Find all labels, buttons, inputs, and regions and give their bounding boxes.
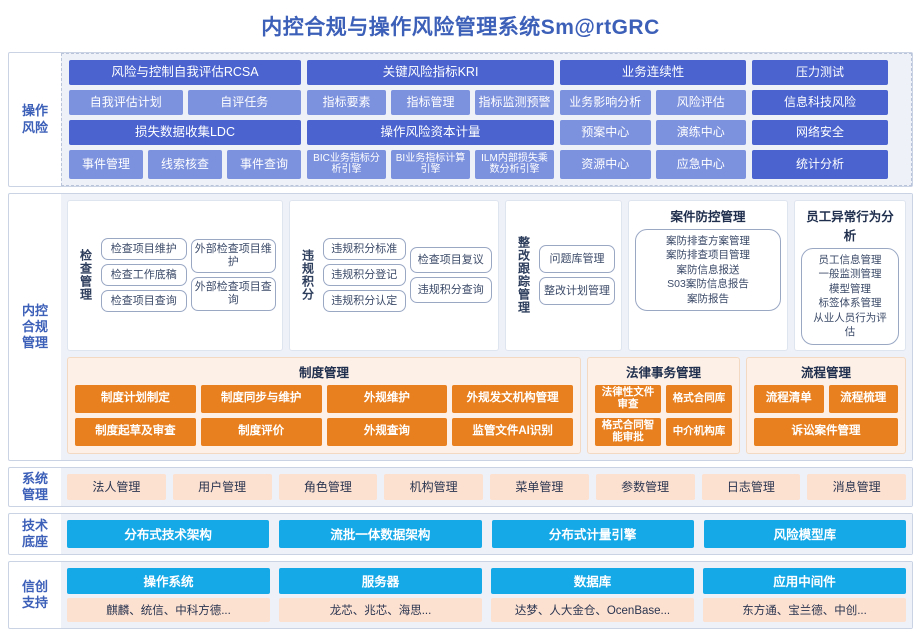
card-case-prevention: 案件防控管理 案防排查方案管理 案防排查项目管理 案防信息报送 S03案防信息报… (628, 200, 788, 351)
internal-control-body: 检查管理 检查项目维护 检查工作底稿 检查项目查询 外部检查项目维护 外部检查项… (61, 194, 912, 460)
list-item: 案防排查项目管理 (644, 248, 772, 262)
card-header: 案件防控管理 (635, 206, 781, 225)
op-item[interactable]: BIC业务指标分析引擎 (307, 150, 386, 179)
sys-item-legal-entity[interactable]: 法人管理 (67, 474, 166, 500)
op-item-it-risk[interactable]: 信息科技风险 (752, 90, 888, 115)
app-root: 内控合规与操作风险管理系统Sm@rtGRC 操作风险 风险与控制自我评估RCSA… (0, 0, 921, 640)
card-staff-behavior: 员工异常行为分析 员工信息管理 一般监测管理 模型管理 标签体系管理 从业人员行… (794, 200, 906, 351)
tech-base-band: 技术底座 分布式技术架构 流批一体数据架构 分布式计量引擎 风险模型库 (8, 513, 913, 555)
policy-item[interactable]: 外规查询 (327, 418, 448, 446)
tech-item-data-arch[interactable]: 流批一体数据架构 (279, 520, 481, 548)
op-item-cyber-security[interactable]: 网络安全 (752, 120, 888, 145)
op-header-capital[interactable]: 操作风险资本计量 (307, 120, 554, 145)
process-item[interactable]: 流程梳理 (829, 385, 899, 413)
tech-item-risk-model-lib[interactable]: 风险模型库 (704, 520, 906, 548)
xc-header[interactable]: 应用中间件 (703, 568, 906, 594)
policy-item[interactable]: 制度评价 (201, 418, 322, 446)
sys-item-role[interactable]: 角色管理 (279, 474, 378, 500)
op-column-kri: 关键风险指标KRI 指标要素 指标管理 指标监测预警 操作风险资本计量 BIC业… (307, 60, 554, 179)
op-item[interactable]: 指标管理 (391, 90, 470, 115)
pill-item[interactable]: 违规积分登记 (323, 264, 406, 286)
xc-column-middleware: 应用中间件 东方通、宝兰德、中创... (703, 568, 906, 622)
operational-risk-band: 操作风险 风险与控制自我评估RCSA 自我评估计划 自评任务 损失数据收集LDC… (8, 52, 913, 187)
op-item[interactable]: 指标监测预警 (475, 90, 554, 115)
tech-item-distributed-arch[interactable]: 分布式技术架构 (67, 520, 269, 548)
list-item: 案防报告 (644, 292, 772, 306)
pill-item[interactable]: 违规积分认定 (323, 290, 406, 312)
sys-item-user[interactable]: 用户管理 (173, 474, 272, 500)
op-header-ldc[interactable]: 损失数据收集LDC (69, 120, 301, 145)
pill-item[interactable]: 整改计划管理 (539, 277, 615, 305)
op-item[interactable]: 预案中心 (560, 120, 651, 145)
policy-item[interactable]: 外规发文机构管理 (452, 385, 573, 413)
system-management-band: 系统管理 法人管理 用户管理 角色管理 机构管理 菜单管理 参数管理 日志管理 … (8, 467, 913, 507)
op-item[interactable]: 事件管理 (69, 150, 143, 179)
pill-item[interactable]: 违规积分查询 (410, 277, 493, 303)
op-column-standalone: 压力测试 信息科技风险 网络安全 统计分析 (752, 60, 888, 179)
op-header-bcm[interactable]: 业务连续性 (560, 60, 746, 85)
legal-item[interactable]: 中介机构库 (666, 418, 732, 446)
sys-item-org[interactable]: 机构管理 (384, 474, 483, 500)
case-prevention-list[interactable]: 案防排查方案管理 案防排查项目管理 案防信息报送 S03案防信息报告 案防报告 (635, 229, 781, 311)
op-column-bcm: 业务连续性 业务影响分析 风险评估 预案中心 演练中心 资源中心 应急中心 (560, 60, 746, 179)
card-vlabel: 检查管理 (74, 206, 98, 345)
op-item[interactable]: 自我评估计划 (69, 90, 183, 115)
process-item-litigation[interactable]: 诉讼案件管理 (754, 418, 898, 446)
list-item: 案防信息报送 (644, 263, 772, 277)
xinchuang-label: 信创支持 (9, 562, 61, 628)
box-process-management: 流程管理 流程清单 流程梳理 诉讼案件管理 (746, 357, 906, 454)
policy-item[interactable]: 监管文件AI识别 (452, 418, 573, 446)
box-legal-affairs: 法律事务管理 法律性文件审查 格式合同库 格式合同智能审批 中介机构库 (587, 357, 740, 454)
xc-vendors[interactable]: 龙芯、兆芯、海思... (279, 598, 482, 622)
tech-item-calc-engine[interactable]: 分布式计量引擎 (492, 520, 694, 548)
op-item[interactable]: 业务影响分析 (560, 90, 651, 115)
op-item[interactable]: 风险评估 (656, 90, 747, 115)
process-item[interactable]: 流程清单 (754, 385, 824, 413)
xc-column-database: 数据库 达梦、人大金仓、OcenBase... (491, 568, 694, 622)
op-item[interactable]: 资源中心 (560, 150, 651, 179)
page-title: 内控合规与操作风险管理系统Sm@rtGRC (261, 11, 660, 41)
card-vlabel: 违规积分 (296, 206, 320, 345)
policy-item[interactable]: 制度起草及审查 (75, 418, 196, 446)
xc-column-os: 操作系统 麒麟、统信、中科方德... (67, 568, 270, 622)
pill-item[interactable]: 检查工作底稿 (101, 264, 187, 286)
list-item: 案防排查方案管理 (644, 234, 772, 248)
pill-item[interactable]: 外部检查项目维护 (191, 239, 277, 273)
xc-header[interactable]: 数据库 (491, 568, 694, 594)
list-item: 标签体系管理 (810, 296, 890, 310)
op-item[interactable]: 演练中心 (656, 120, 747, 145)
xc-vendors[interactable]: 东方通、宝兰德、中创... (703, 598, 906, 622)
staff-behavior-list[interactable]: 员工信息管理 一般监测管理 模型管理 标签体系管理 从业人员行为评估 (801, 248, 899, 345)
card-violation-points: 违规积分 违规积分标准 违规积分登记 违规积分认定 检查项目复议 违规积分查询 (289, 200, 499, 351)
pill-item[interactable]: 违规积分标准 (323, 238, 406, 260)
list-item: 一般监测管理 (810, 267, 890, 281)
pill-item[interactable]: 检查项目复议 (410, 247, 493, 273)
legal-item[interactable]: 法律性文件审查 (595, 385, 661, 413)
xc-header[interactable]: 操作系统 (67, 568, 270, 594)
op-item[interactable]: 指标要素 (307, 90, 386, 115)
operational-risk-body: 风险与控制自我评估RCSA 自我评估计划 自评任务 损失数据收集LDC 事件管理… (61, 53, 912, 186)
list-item: 员工信息管理 (810, 253, 890, 267)
xinchuang-body: 操作系统 麒麟、统信、中科方德... 服务器 龙芯、兆芯、海思... 数据库 达… (61, 562, 912, 628)
sys-item-param[interactable]: 参数管理 (596, 474, 695, 500)
box-header: 制度管理 (75, 362, 573, 381)
policy-item[interactable]: 制度计划制定 (75, 385, 196, 413)
list-item: S03案防信息报告 (644, 277, 772, 291)
sys-item-message[interactable]: 消息管理 (807, 474, 906, 500)
box-header: 流程管理 (754, 362, 898, 381)
list-item: 从业人员行为评估 (810, 311, 890, 340)
card-vlabel: 整改跟踪管理 (512, 206, 536, 345)
op-item[interactable]: 线索核查 (148, 150, 222, 179)
op-header-rcsa[interactable]: 风险与控制自我评估RCSA (69, 60, 301, 85)
xc-vendors[interactable]: 达梦、人大金仓、OcenBase... (491, 598, 694, 622)
system-management-label: 系统管理 (9, 468, 61, 506)
op-item[interactable]: 应急中心 (656, 150, 747, 179)
pill-item[interactable]: 检查项目查询 (101, 290, 187, 312)
pill-item[interactable]: 问题库管理 (539, 245, 615, 273)
xc-column-server: 服务器 龙芯、兆芯、海思... (279, 568, 482, 622)
sys-item-menu[interactable]: 菜单管理 (490, 474, 589, 500)
sys-item-log[interactable]: 日志管理 (702, 474, 801, 500)
op-item[interactable]: 自评任务 (188, 90, 302, 115)
xinchuang-band: 信创支持 操作系统 麒麟、统信、中科方德... 服务器 龙芯、兆芯、海思... … (8, 561, 913, 629)
policy-item[interactable]: 制度同步与维护 (201, 385, 322, 413)
tech-base-label: 技术底座 (9, 514, 61, 554)
op-item-stress-test[interactable]: 压力测试 (752, 60, 888, 85)
op-column-rcsa: 风险与控制自我评估RCSA 自我评估计划 自评任务 损失数据收集LDC 事件管理… (69, 60, 301, 179)
box-policy-management: 制度管理 制度计划制定 制度同步与维护 外规维护 外规发文机构管理 制度起草及审… (67, 357, 581, 454)
policy-item[interactable]: 外规维护 (327, 385, 448, 413)
title-bar: 内控合规与操作风险管理系统Sm@rtGRC (8, 0, 913, 52)
tech-base-body: 分布式技术架构 流批一体数据架构 分布式计量引擎 风险模型库 (61, 514, 912, 554)
operational-risk-label: 操作风险 (9, 53, 61, 186)
internal-control-label: 内控合规管理 (9, 194, 61, 460)
xc-vendors[interactable]: 麒麟、统信、中科方德... (67, 598, 270, 622)
box-header: 法律事务管理 (595, 362, 732, 381)
op-item-statistics[interactable]: 统计分析 (752, 150, 888, 179)
op-item[interactable]: 事件查询 (227, 150, 301, 179)
card-header: 员工异常行为分析 (801, 206, 899, 244)
xc-header[interactable]: 服务器 (279, 568, 482, 594)
op-header-kri[interactable]: 关键风险指标KRI (307, 60, 554, 85)
op-item[interactable]: ILM内部损失乘数分析引擎 (475, 150, 554, 179)
op-item[interactable]: BI业务指标计算引擎 (391, 150, 470, 179)
card-inspection-management: 检查管理 检查项目维护 检查工作底稿 检查项目查询 外部检查项目维护 外部检查项… (67, 200, 283, 351)
pill-item[interactable]: 检查项目维护 (101, 238, 187, 260)
system-management-body: 法人管理 用户管理 角色管理 机构管理 菜单管理 参数管理 日志管理 消息管理 (61, 468, 912, 506)
legal-item[interactable]: 格式合同库 (666, 385, 732, 413)
internal-control-band: 内控合规管理 检查管理 检查项目维护 检查工作底稿 检查项目查询 外部检查项目维… (8, 193, 913, 461)
legal-item[interactable]: 格式合同智能审批 (595, 418, 661, 446)
card-rectification-tracking: 整改跟踪管理 问题库管理 整改计划管理 (505, 200, 622, 351)
pill-item[interactable]: 外部检查项目查询 (191, 277, 277, 311)
list-item: 模型管理 (810, 282, 890, 296)
